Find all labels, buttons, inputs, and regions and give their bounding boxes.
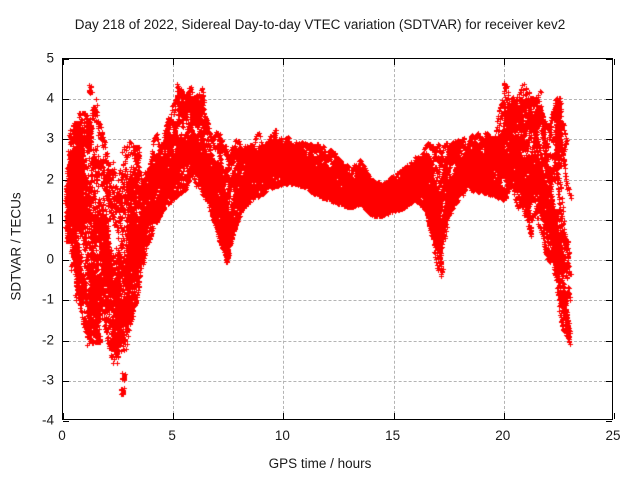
- y-axis-tick-label: -4: [8, 413, 54, 428]
- x-axis-tick-label: 10: [252, 428, 312, 443]
- x-axis-tick: [614, 413, 615, 419]
- x-axis-tick: [614, 59, 615, 65]
- x-axis-tick-label: 20: [473, 428, 533, 443]
- scatter-data-layer: [63, 59, 614, 421]
- plot-frame: [62, 58, 613, 420]
- y-axis-tick-label: 5: [8, 51, 54, 66]
- y-axis-tick-label: -3: [8, 372, 54, 387]
- x-axis-tick-label: 5: [142, 428, 202, 443]
- x-axis-tick-label: 25: [583, 428, 640, 443]
- x-axis-tick-label: 0: [32, 428, 92, 443]
- x-axis-title: GPS time / hours: [0, 456, 640, 471]
- y-axis-title: SDTVAR / TECUs: [9, 147, 24, 347]
- y-axis-tick: [606, 421, 612, 422]
- y-axis-tick: [63, 421, 69, 422]
- y-axis-tick-label: 4: [8, 91, 54, 106]
- chart-title: Day 218 of 2022, Sidereal Day-to-day VTE…: [0, 17, 640, 32]
- x-axis-tick-label: 15: [363, 428, 423, 443]
- chart-root: Day 218 of 2022, Sidereal Day-to-day VTE…: [0, 0, 640, 480]
- y-axis-tick-label: 3: [8, 131, 54, 146]
